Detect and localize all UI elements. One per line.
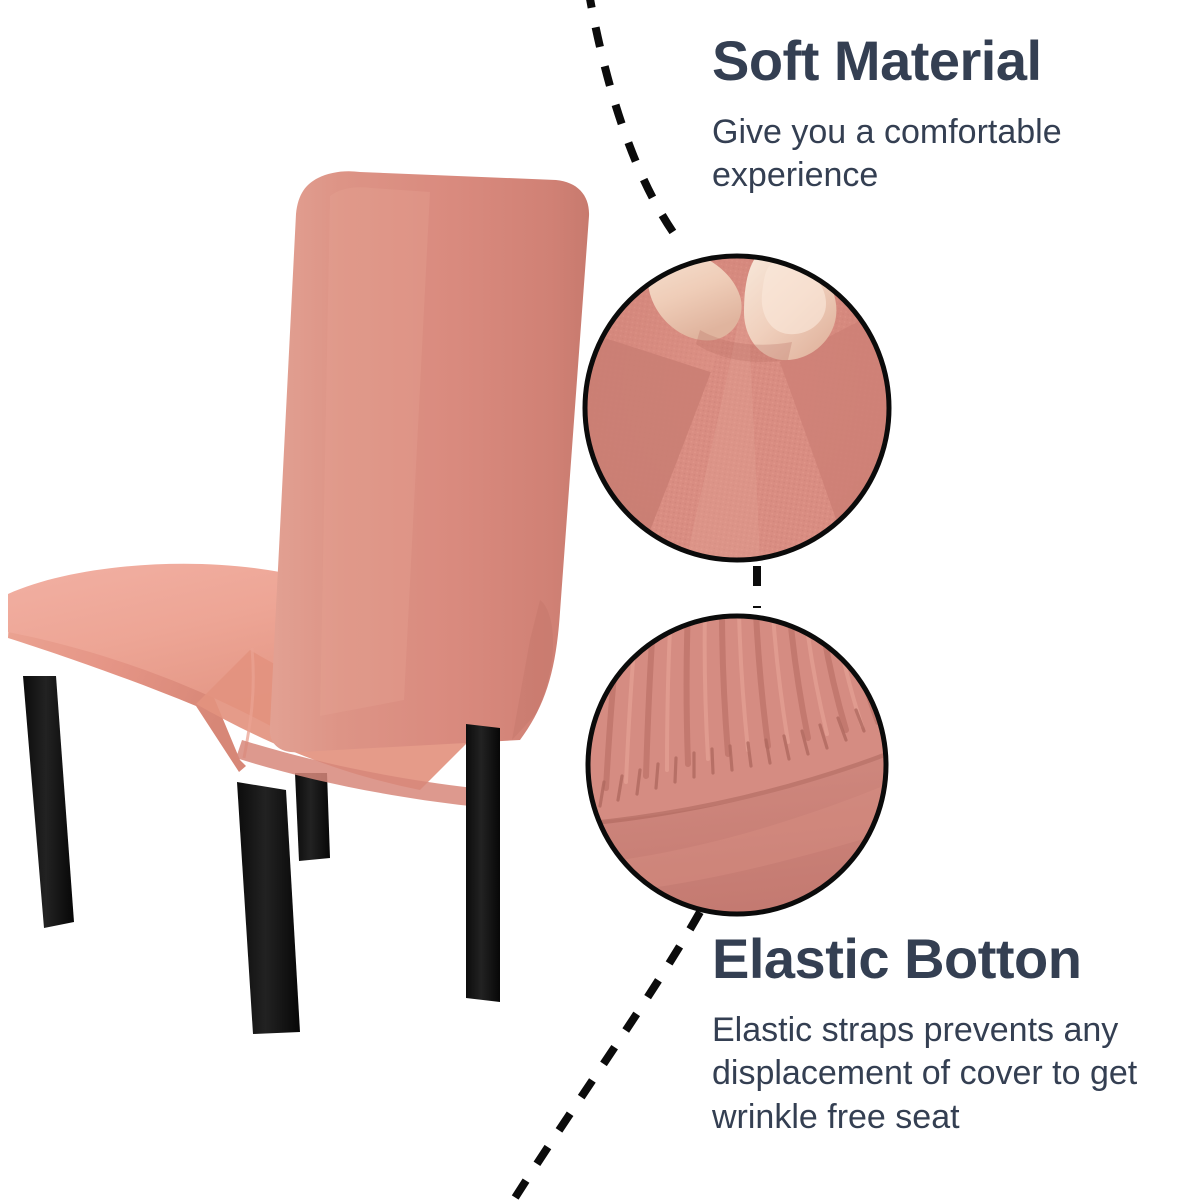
chair-legs-rear [23, 676, 330, 928]
product-feature-infographic: Soft Material Give you a comfortable exp… [0, 0, 1200, 1200]
detail-circle-outline-bottom [588, 616, 886, 914]
chair-seat-top [8, 564, 432, 742]
feature-description-soft-material: Give you a comfortable experience [712, 111, 1182, 198]
feature-title-soft-material: Soft Material [712, 32, 1182, 91]
chair-seat-front-skirt [196, 650, 468, 790]
chair-backrest-cover [270, 171, 589, 752]
feature-title-elastic-bottom: Elastic Botton [712, 930, 1182, 989]
detail-circle-fabric-pinch [580, 249, 900, 570]
chair-cover-hem [236, 740, 474, 806]
chair-with-slipcover [8, 171, 589, 1034]
detail-circle-elastic-hem [585, 610, 893, 920]
chair-legs-front [237, 724, 500, 1034]
elastic-pleats [585, 610, 893, 822]
detail-circle-outline-top [585, 256, 889, 560]
chair-seat-skirt [8, 596, 246, 772]
feature-block-soft-material: Soft Material Give you a comfortable exp… [712, 32, 1182, 198]
feature-block-elastic-bottom: Elastic Botton Elastic straps prevents a… [712, 930, 1182, 1139]
feature-description-elastic-bottom: Elastic straps prevents any displacement… [712, 1009, 1182, 1140]
